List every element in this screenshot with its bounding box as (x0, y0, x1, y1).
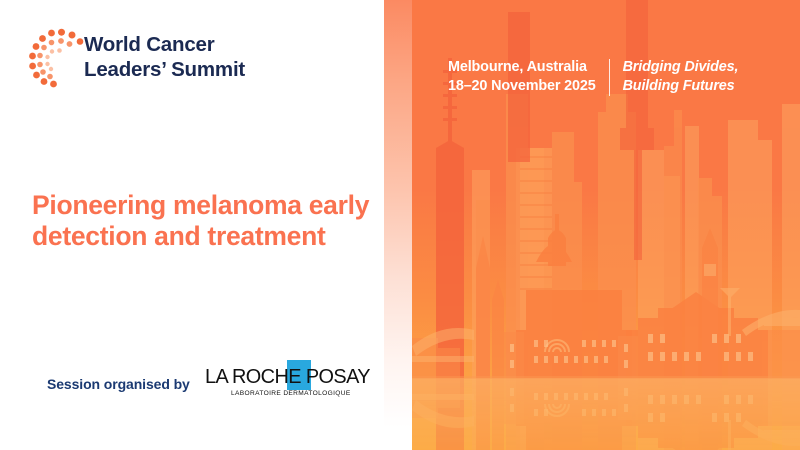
session-title-line-2: detection and treatment (32, 221, 325, 251)
event-location-line-1: Melbourne, Australia (448, 58, 596, 77)
organiser-wordmark: LA ROCHE POSAY (205, 365, 376, 389)
promo-banner: World Cancer Leaders’ Summit Pioneering … (0, 0, 800, 450)
session-title: Pioneering melanoma early detection and … (32, 190, 382, 252)
vertical-divider (609, 59, 610, 96)
session-title-line-1: Pioneering melanoma early (32, 190, 369, 220)
panel-gradient-fade (384, 0, 412, 450)
organiser-tagline: LABORATOIRE DERMATOLOGIQUE (231, 390, 381, 397)
event-info: Melbourne, Australia 18–20 November 2025… (448, 58, 738, 96)
event-location: Melbourne, Australia 18–20 November 2025 (448, 58, 596, 96)
la-roche-posay-logo: LA ROCHE POSAY LABORATOIRE DERMATOLOGIQU… (205, 360, 381, 408)
left-content-panel: World Cancer Leaders’ Summit Pioneering … (0, 0, 412, 450)
wcls-logo: World Cancer Leaders’ Summit (28, 28, 258, 98)
logo-line-2: Leaders’ Summit (84, 57, 245, 82)
event-theme-line-1: Bridging Divides, (623, 58, 739, 77)
organiser-label: Session organised by (47, 376, 190, 392)
wcls-logo-text: World Cancer Leaders’ Summit (84, 32, 245, 82)
dot-spiral-icon (28, 28, 86, 88)
event-theme: Bridging Divides, Building Futures (623, 58, 739, 96)
skyline-artwork-panel: Melbourne, Australia 18–20 November 2025… (412, 0, 800, 450)
event-theme-line-2: Building Futures (623, 77, 739, 96)
event-location-line-2: 18–20 November 2025 (448, 77, 596, 96)
logo-line-1: World Cancer (84, 33, 215, 56)
